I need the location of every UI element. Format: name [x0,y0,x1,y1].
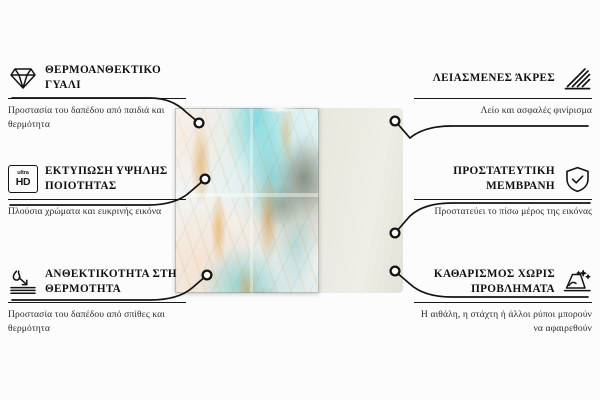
feature-description: Προστατεύει το πίσω μέρος της εικόνας [414,205,592,219]
diamond-icon [8,63,38,93]
panel-front-face [175,108,319,293]
feature-high-quality-print: ultra HD ΕΚΤΥΠΩΣΗ ΥΨΗΛΗΣ ΠΟΙΟΤΗΤΑΣ Πλούσ… [8,163,186,219]
shield-check-icon [562,164,592,194]
feature-protective-membrane: ΠΡΟΣΤΑΤΕΥΤΙΚΗ ΜΕΜΒΡΑΝΗ Προστατεύει το πί… [414,163,592,219]
feature-title: ΕΚΤΥΠΩΣΗ ΥΨΗΛΗΣ ΠΟΙΟΤΗΤΑΣ [45,164,186,194]
feature-description: Η αιθάλη, η στάχτη ή άλλοι ρύποι μπορούν… [414,308,592,336]
product-image [175,108,403,293]
feature-title: ΑΝΘΕΚΤΙΚΟΤΗΤΑ ΣΤΗ ΘΕΡΜΟΤΗΤΑ [45,267,186,297]
divider [414,199,592,200]
feature-title: ΚΑΘΑΡΙΣΜΟΣ ΧΩΡΙΣ ΠΡΟΒΛΗΜΑΤΑ [414,267,555,297]
polished-edges-icon [562,63,592,93]
feature-description: Πλούσια χρώματα και ευκρινής εικόνα [8,205,186,219]
feature-title: ΛΕΙΑΣΜΕΝΕΣ ΆΚΡΕΣ [414,71,555,86]
feature-title: ΘΕΡΜΟΑΝΘΕΚΤΙΚΟ ΓΥΑΛΙ [45,63,186,93]
product-feature-infographic: ΘΕΡΜΟΑΝΘΕΚΤΙΚΟ ΓΥΑΛΙ Προστασία του δαπέδ… [0,0,600,400]
feature-polished-edges: ΛΕΙΑΣΜΕΝΕΣ ΆΚΡΕΣ Λείο και ασφαλές φινίρι… [414,62,592,118]
divider [8,302,186,303]
marble-artwork [175,108,319,293]
divider [8,98,186,99]
heat-resistance-icon [8,267,38,297]
feature-description: Λείο και ασφαλές φινίρισμα [414,104,592,118]
divider [8,199,186,200]
feature-title: ΠΡΟΣΤΑΤΕΥΤΙΚΗ ΜΕΜΒΡΑΝΗ [414,164,555,194]
feature-easy-cleaning: ΚΑΘΑΡΙΣΜΟΣ ΧΩΡΙΣ ΠΡΟΒΛΗΜΑΤΑ Η αιθάλη, η … [414,266,592,336]
feature-heat-resistance: ΑΝΘΕΚΤΙΚΟΤΗΤΑ ΣΤΗ ΘΕΡΜΟΤΗΤΑ Προστασία το… [8,266,186,336]
ultra-hd-icon: ultra HD [8,164,38,194]
feature-heat-resistant-glass: ΘΕΡΜΟΑΝΘΕΚΤΙΚΟ ΓΥΑΛΙ Προστασία του δαπέδ… [8,62,186,132]
easy-clean-icon [562,267,592,297]
feature-description: Προστασία του δαπέδου από σπίθες και θερ… [8,308,186,336]
divider [414,302,592,303]
feature-description: Προστασία του δαπέδου από παιδιά και θερ… [8,104,186,132]
divider [414,98,592,99]
